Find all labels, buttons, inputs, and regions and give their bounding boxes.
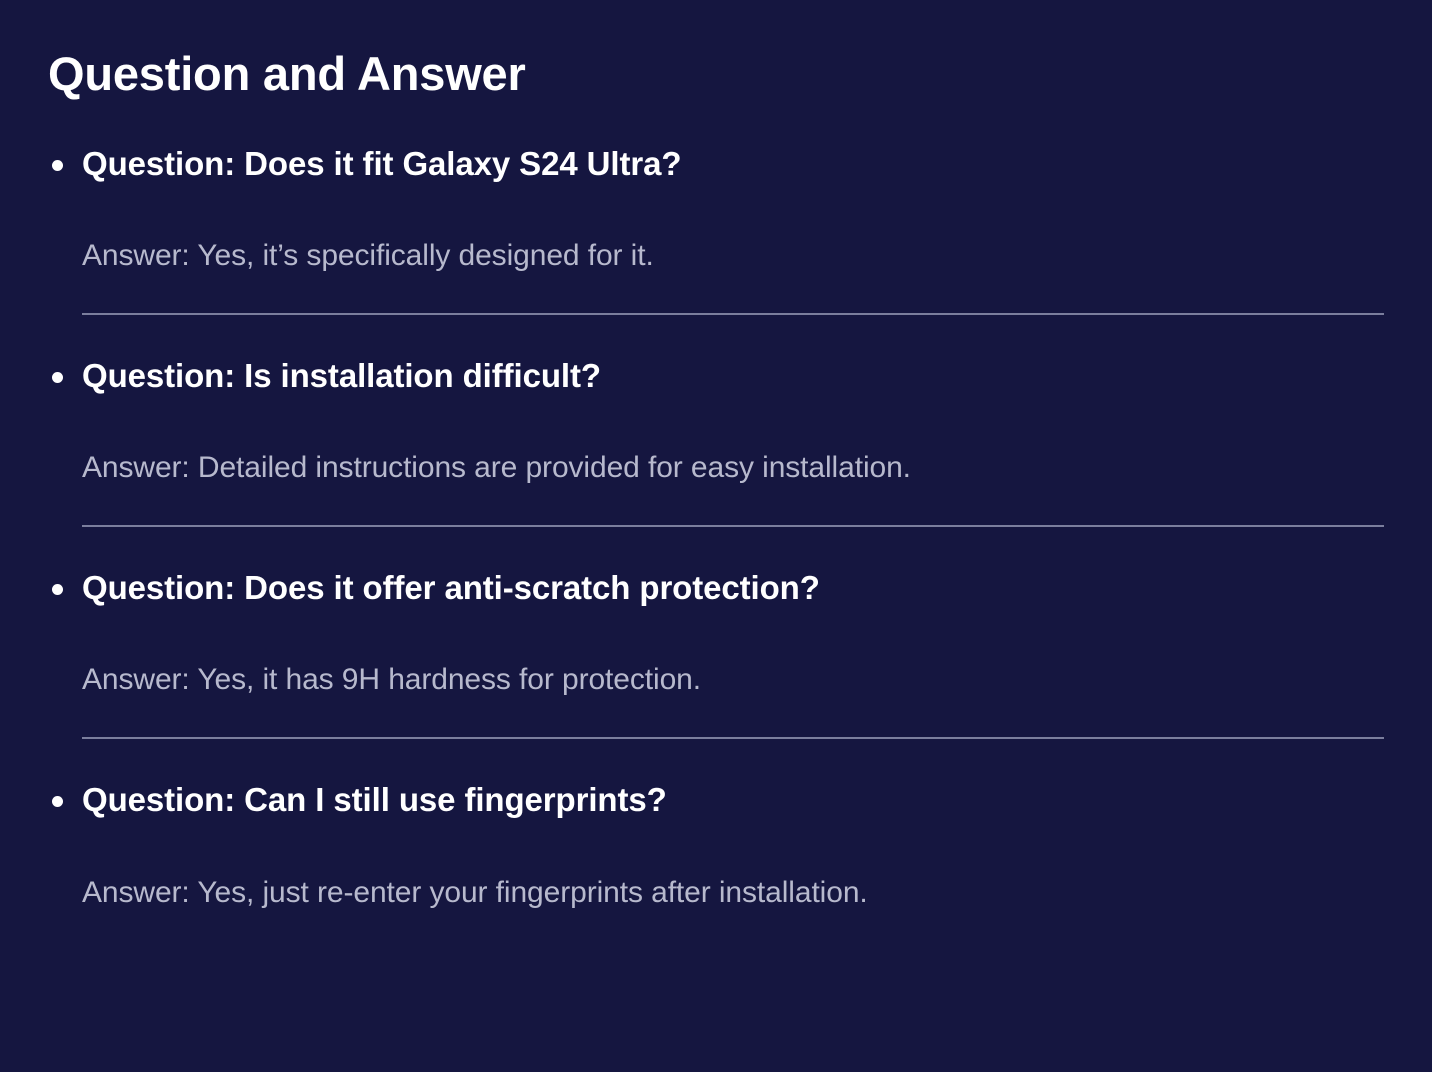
qa-question: Question: Does it fit Galaxy S24 Ultra? xyxy=(82,143,1384,184)
qa-answer: Answer: Yes, it’s specifically designed … xyxy=(82,236,1384,275)
qa-item: Question: Does it offer anti-scratch pro… xyxy=(48,567,1384,739)
qa-item: Question: Does it fit Galaxy S24 Ultra? … xyxy=(48,143,1384,315)
qa-page: Question and Answer Question: Does it fi… xyxy=(0,0,1432,1072)
bullet-icon xyxy=(52,372,63,383)
qa-list: Question: Does it fit Galaxy S24 Ultra? … xyxy=(48,143,1384,912)
bullet-icon xyxy=(52,160,63,171)
qa-item: Question: Can I still use fingerprints? … xyxy=(48,779,1384,911)
qa-divider xyxy=(82,737,1384,739)
qa-answer: Answer: Yes, it has 9H hardness for prot… xyxy=(82,660,1384,699)
qa-answer: Answer: Yes, just re-enter your fingerpr… xyxy=(82,873,1384,912)
qa-divider xyxy=(82,525,1384,527)
bullet-icon xyxy=(52,796,63,807)
qa-question: Question: Is installation difficult? xyxy=(82,355,1384,396)
page-title: Question and Answer xyxy=(48,0,1384,101)
qa-item: Question: Is installation difficult? Ans… xyxy=(48,355,1384,527)
qa-question: Question: Can I still use fingerprints? xyxy=(82,779,1384,820)
qa-divider xyxy=(82,313,1384,315)
bullet-icon xyxy=(52,584,63,595)
qa-answer: Answer: Detailed instructions are provid… xyxy=(82,448,1384,487)
qa-question: Question: Does it offer anti-scratch pro… xyxy=(82,567,1384,608)
